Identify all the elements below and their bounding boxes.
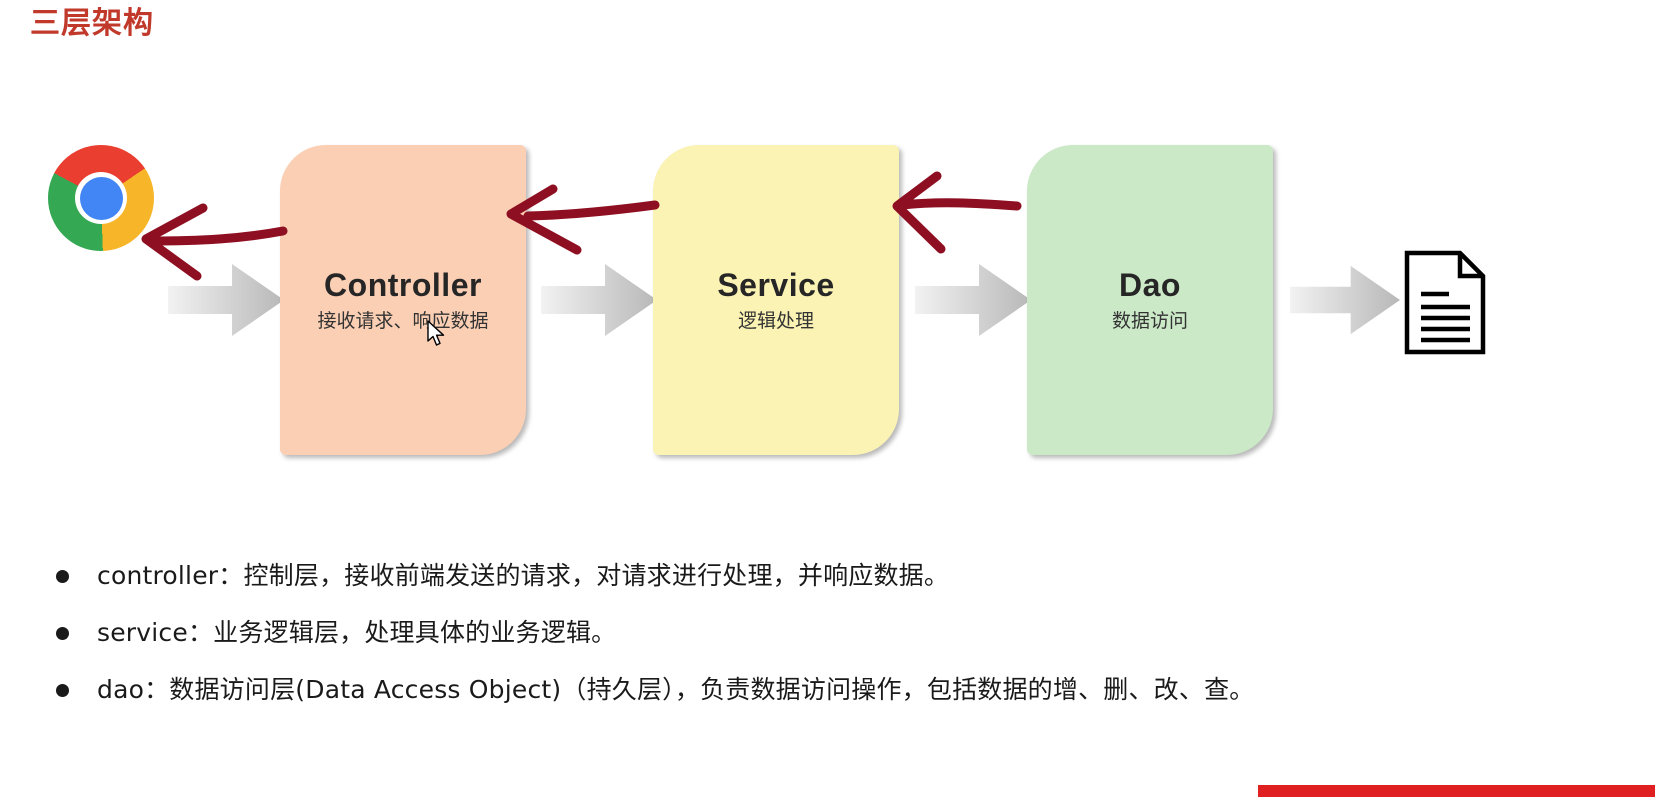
bullet-dot-icon	[56, 627, 69, 640]
chrome-blue-core	[80, 177, 123, 220]
list-item: controller：控制层，接收前端发送的请求，对请求进行处理，并响应数据。	[56, 558, 1556, 594]
layer-box-controller[interactable]: Controller 接收请求、响应数据	[280, 145, 526, 455]
list-item: service：业务逻辑层，处理具体的业务逻辑。	[56, 615, 1556, 651]
layer-subtitle: 逻辑处理	[738, 309, 814, 335]
list-item-text: controller：控制层，接收前端发送的请求，对请求进行处理，并响应数据。	[97, 558, 949, 594]
gray-right-arrow-icon	[168, 262, 284, 338]
chrome-logo-icon	[48, 145, 154, 251]
layer-title: Service	[717, 265, 834, 305]
gray-right-arrow-icon	[541, 262, 657, 338]
bullet-dot-icon	[56, 570, 69, 583]
layer-box-service[interactable]: Service 逻辑处理	[653, 145, 899, 455]
page-title: 三层架构	[30, 3, 154, 45]
layer-box-dao[interactable]: Dao 数据访问	[1027, 145, 1273, 455]
mouse-pointer-icon	[427, 320, 447, 348]
list-item-text: dao：数据访问层(Data Access Object)（持久层），负责数据访…	[97, 672, 1255, 708]
list-item: dao：数据访问层(Data Access Object)（持久层），负责数据访…	[56, 672, 1556, 708]
list-item-text: service：业务逻辑层，处理具体的业务逻辑。	[97, 615, 616, 651]
layer-title: Dao	[1119, 265, 1181, 305]
bullet-dot-icon	[56, 684, 69, 697]
document-file-icon	[1404, 250, 1486, 355]
gray-right-arrow-icon	[1290, 262, 1400, 338]
layer-title: Controller	[324, 265, 482, 305]
layer-subtitle: 接收请求、响应数据	[317, 309, 488, 335]
layer-subtitle: 数据访问	[1112, 309, 1188, 335]
bottom-accent-bar	[1258, 785, 1655, 797]
description-list: controller：控制层，接收前端发送的请求，对请求进行处理，并响应数据。 …	[56, 558, 1556, 729]
gray-right-arrow-icon	[915, 262, 1031, 338]
